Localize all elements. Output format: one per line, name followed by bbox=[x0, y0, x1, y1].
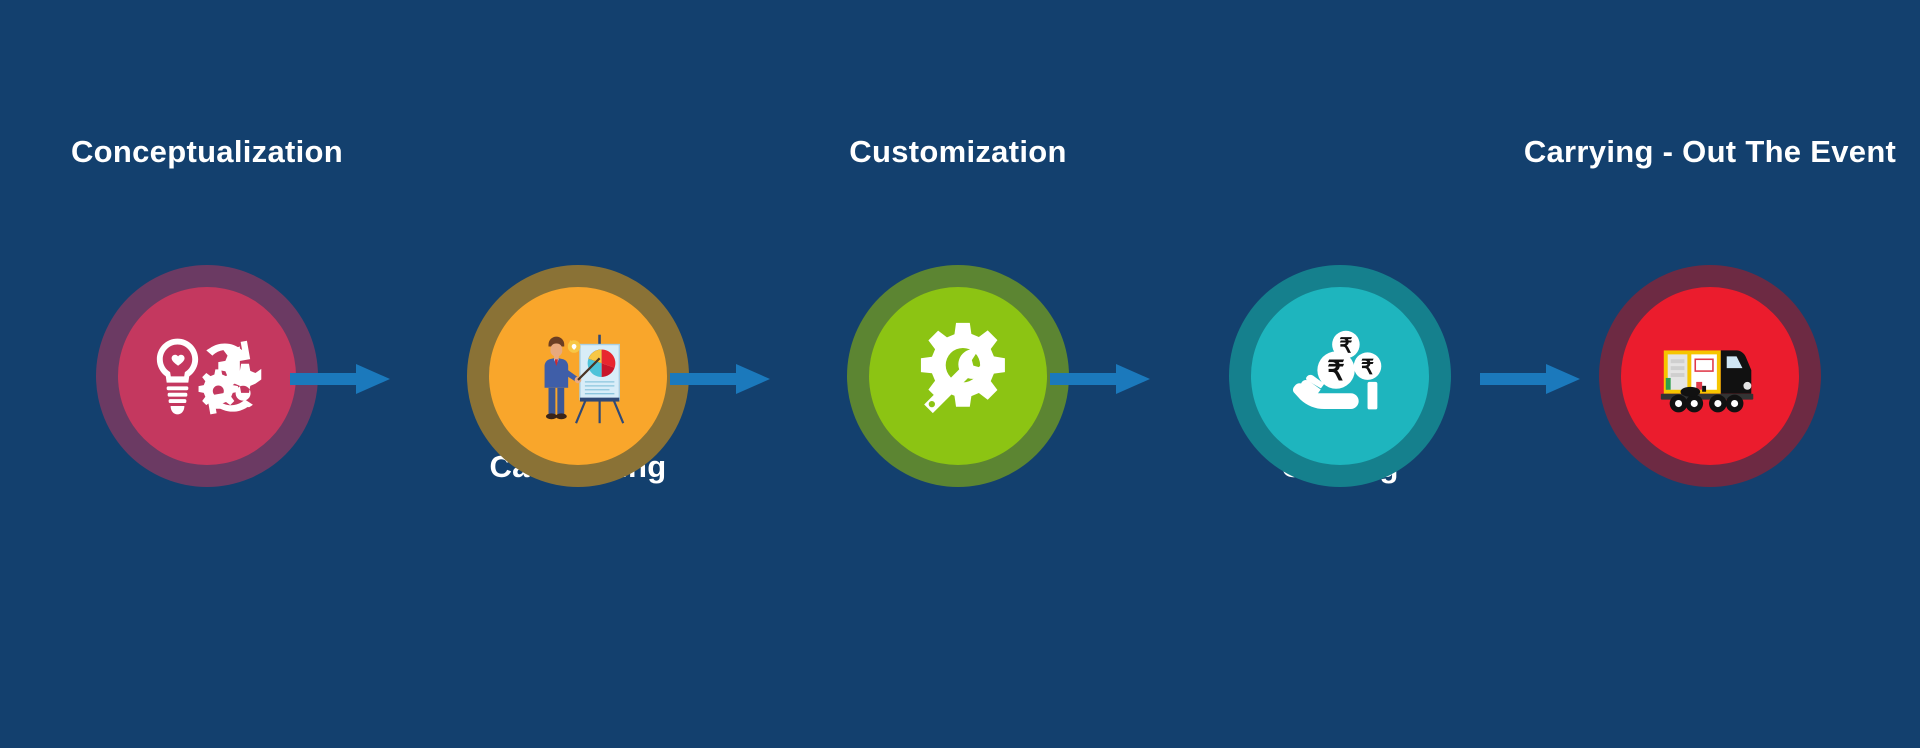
step-label-carrying-out-the-event: Carrying - Out The Event bbox=[1524, 136, 1896, 167]
step-node-costing[interactable]: ₹ ₹ ₹ bbox=[1229, 265, 1451, 487]
flow-arrow-1 bbox=[290, 362, 390, 396]
step-disc-carrying-out-the-event bbox=[1621, 287, 1799, 465]
svg-text:₹: ₹ bbox=[1327, 355, 1345, 386]
hand-holding-rupee-coins-icon: ₹ ₹ ₹ bbox=[1281, 317, 1399, 435]
flow-arrow-3 bbox=[1050, 362, 1150, 396]
step-disc-costing: ₹ ₹ ₹ bbox=[1251, 287, 1429, 465]
step-node-customization[interactable] bbox=[847, 265, 1069, 487]
diagram-canvas: Conceptualization Canvassing Customizati… bbox=[0, 0, 1920, 748]
step-node-canvassing[interactable] bbox=[467, 265, 689, 487]
arrow-right-icon bbox=[1050, 362, 1150, 396]
step-node-carrying-out-the-event[interactable] bbox=[1599, 265, 1821, 487]
step-label-conceptualization: Conceptualization bbox=[71, 136, 343, 167]
arrow-right-icon bbox=[670, 362, 770, 396]
step-node-conceptualization[interactable] bbox=[96, 265, 318, 487]
gear-wrench-icon bbox=[899, 317, 1017, 435]
svg-text:₹: ₹ bbox=[1361, 357, 1374, 379]
step-disc-customization bbox=[869, 287, 1047, 465]
flow-arrow-4 bbox=[1480, 362, 1580, 396]
arrow-right-icon bbox=[290, 362, 390, 396]
step-disc-canvassing bbox=[489, 287, 667, 465]
delivery-truck-icon bbox=[1651, 317, 1769, 435]
arrow-right-icon bbox=[1480, 362, 1580, 396]
presenter-pie-chart-easel-icon bbox=[519, 317, 637, 435]
flow-arrow-2 bbox=[670, 362, 770, 396]
step-disc-conceptualization bbox=[118, 287, 296, 465]
lightbulb-gears-cycle-icon bbox=[148, 317, 266, 435]
step-label-customization: Customization bbox=[849, 136, 1066, 167]
